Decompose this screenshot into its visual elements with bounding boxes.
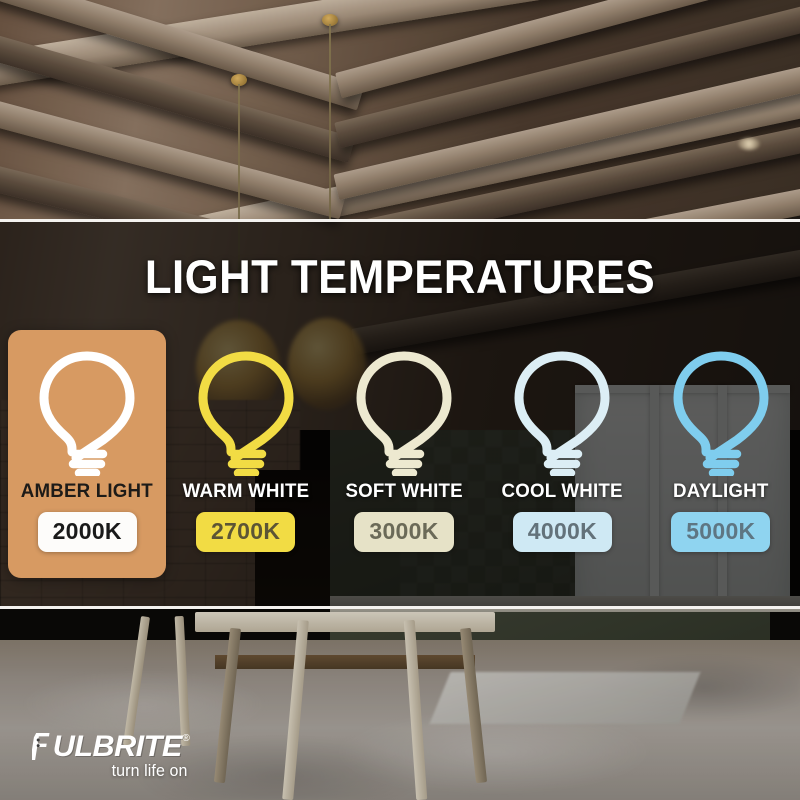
logo-wordmark-row: ULBRITE ® bbox=[32, 733, 190, 760]
page-title: LIGHT TEMPERATURES bbox=[28, 252, 772, 302]
kelvin-badge: 3000K bbox=[354, 512, 453, 552]
brand-logo: ULBRITE ® turn life on bbox=[32, 733, 190, 781]
temperature-card-list: AMBER LIGHT2000K WARM WHITE2700K SOFT WH… bbox=[0, 330, 800, 580]
temperature-card-label: AMBER LIGHT bbox=[21, 480, 153, 503]
temperature-card-label: COOL WHITE bbox=[502, 480, 623, 503]
logo-wordmark: ULBRITE bbox=[53, 733, 182, 760]
temperature-card-label: WARM WHITE bbox=[182, 480, 309, 503]
temperature-card-amber-light[interactable]: AMBER LIGHT2000K bbox=[8, 330, 166, 578]
light-bulb-icon bbox=[665, 348, 777, 476]
temperature-card-warm-white[interactable]: WARM WHITE2700K bbox=[166, 330, 324, 578]
bulbrite-b-icon bbox=[32, 733, 53, 760]
temperature-card-daylight[interactable]: DAYLIGHT5000K bbox=[642, 330, 800, 578]
light-bulb-icon bbox=[348, 348, 460, 476]
light-temperatures-poster: LIGHT TEMPERATURES AMBER LIGHT2000K WARM… bbox=[0, 0, 800, 800]
light-bulb-icon bbox=[31, 348, 143, 476]
temperature-card-soft-white[interactable]: SOFT WHITE3000K bbox=[325, 330, 483, 578]
content-overlay: LIGHT TEMPERATURES AMBER LIGHT2000K WARM… bbox=[0, 0, 800, 800]
temperature-card-cool-white[interactable]: COOL WHITE4000K bbox=[483, 330, 641, 578]
kelvin-badge: 2700K bbox=[196, 512, 295, 552]
light-bulb-icon bbox=[506, 348, 618, 476]
registered-trademark-icon: ® bbox=[183, 733, 190, 745]
temperature-card-label: SOFT WHITE bbox=[345, 480, 462, 503]
kelvin-badge: 2000K bbox=[38, 512, 137, 552]
logo-tagline: turn life on bbox=[34, 762, 187, 781]
kelvin-badge: 5000K bbox=[671, 512, 770, 552]
temperature-card-label: DAYLIGHT bbox=[673, 480, 769, 503]
kelvin-badge: 4000K bbox=[513, 512, 612, 552]
light-bulb-icon bbox=[190, 348, 302, 476]
